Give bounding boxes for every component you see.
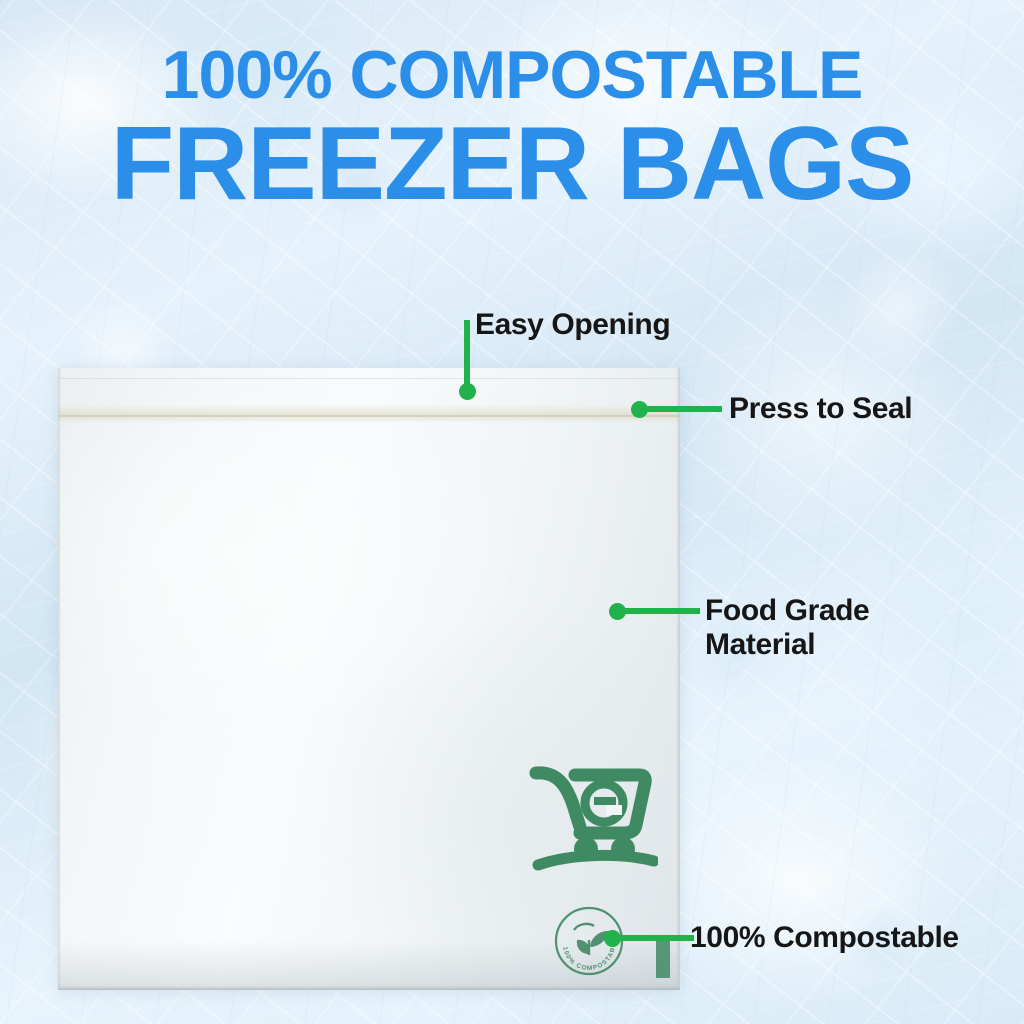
page-title: 100% COMPOSTABLE FREEZER BAGS <box>0 44 1024 214</box>
leader-dot-food-grade <box>609 603 626 620</box>
leader-line-press-to-seal <box>640 406 722 412</box>
headline-line-1: 100% COMPOSTABLE <box>0 44 1024 108</box>
leader-line-compostable <box>612 935 694 941</box>
callout-label-food-grade: Food Grade Material <box>705 594 869 662</box>
leader-dot-compostable <box>604 930 621 947</box>
leader-dot-easy-opening <box>459 383 476 400</box>
callout-label-press-to-seal: Press to Seal <box>729 392 912 426</box>
bag-bottom-edge <box>58 987 680 990</box>
headline-line-2: FREEZER BAGS <box>0 116 1024 214</box>
callout-label-compostable: 100% Compostable <box>690 921 959 955</box>
leader-line-easy-opening <box>464 320 470 392</box>
callout-label-easy-opening: Easy Opening <box>475 308 670 342</box>
freezer-bag-image: 100% COMPOSTABLE <box>58 368 680 990</box>
leader-line-food-grade <box>618 608 700 614</box>
leader-dot-press-to-seal <box>631 401 648 418</box>
bag-left-edge <box>58 368 61 990</box>
bag-seal-line <box>58 415 680 417</box>
shopping-cart-logo-icon <box>528 753 658 873</box>
bag-top-fold <box>58 378 680 379</box>
bag-green-tab-mark <box>656 936 670 978</box>
bag-right-edge <box>676 368 680 990</box>
bag-seal-band <box>58 404 680 422</box>
